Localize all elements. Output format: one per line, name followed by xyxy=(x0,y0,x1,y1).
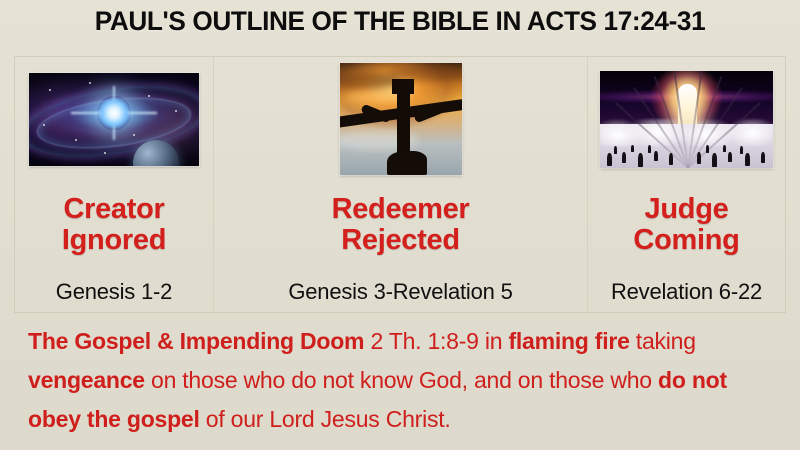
star-speck xyxy=(175,110,177,112)
heading-cell-redeemer: Redeemer Rejected xyxy=(214,181,588,269)
crowd-figure xyxy=(728,152,732,162)
heading-judge-line1: Judge xyxy=(645,193,729,225)
page-title: PAUL'S OUTLINE OF THE BIBLE IN ACTS 17:2… xyxy=(12,6,788,37)
image-cell-creator xyxy=(15,57,214,181)
heading-creator-line2: Ignored xyxy=(62,224,166,256)
verse-segment-3: taking xyxy=(630,328,696,354)
image-cell-judge xyxy=(588,57,785,181)
heading-redeemer: Redeemer Rejected xyxy=(332,194,470,256)
crowd-figure xyxy=(607,153,612,166)
judgment-throne-image xyxy=(600,71,773,168)
verse-segment-7: of our Lord Jesus Christ. xyxy=(200,406,451,432)
verse-segment-1: 2 Th. 1:8-9 in xyxy=(364,328,508,354)
star-speck xyxy=(133,134,135,136)
verse-segment-2: flaming fire xyxy=(508,328,629,354)
heading-redeemer-line1: Redeemer xyxy=(332,193,470,225)
verse-segment-4: vengeance xyxy=(28,367,145,393)
crowd-figure xyxy=(669,153,673,165)
reference-cell-judge: Revelation 6-22 xyxy=(588,269,785,314)
crowd-figure xyxy=(723,145,726,152)
verse-paragraph: The Gospel & Impending Doom 2 Th. 1:8-9 … xyxy=(28,322,761,439)
galaxy-creation-image xyxy=(29,73,199,166)
slide-canvas: PAUL'S OUTLINE OF THE BIBLE IN ACTS 17:2… xyxy=(0,0,800,450)
star-speck xyxy=(148,95,150,97)
reference-cell-creator: Genesis 1-2 xyxy=(15,269,214,314)
crowd-figure xyxy=(706,145,709,153)
reference-creator: Genesis 1-2 xyxy=(56,279,172,305)
crowd-figure xyxy=(740,146,743,154)
crowd-figure xyxy=(697,152,701,164)
star-speck xyxy=(89,82,91,84)
reference-redeemer: Genesis 3-Revelation 5 xyxy=(288,279,512,305)
reference-judge: Revelation 6-22 xyxy=(611,279,762,305)
verse-segment-0: The Gospel & Impending Doom xyxy=(28,328,364,354)
reference-cell-redeemer: Genesis 3-Revelation 5 xyxy=(214,269,588,314)
outline-table: Creator Ignored Redeemer Rejected Judge … xyxy=(14,56,786,313)
heading-cell-creator: Creator Ignored xyxy=(15,181,214,269)
cross-base-rock xyxy=(387,151,427,175)
crucifix-sunset-image xyxy=(340,63,462,175)
heading-judge: Judge Coming xyxy=(633,194,739,256)
crowd-figure xyxy=(631,145,634,152)
heading-cell-judge: Judge Coming xyxy=(588,181,785,269)
crowd-figure xyxy=(761,152,765,163)
cloud-band xyxy=(600,119,773,146)
star-speck xyxy=(43,124,45,126)
crowd-figure xyxy=(654,151,658,161)
heading-judge-line2: Coming xyxy=(633,224,739,256)
heading-creator: Creator Ignored xyxy=(62,194,166,256)
crowd-figure xyxy=(614,146,617,154)
crowd-figure xyxy=(745,153,750,166)
crowd-figure xyxy=(638,153,643,167)
heading-redeemer-line2: Rejected xyxy=(341,224,460,256)
crucifix-silhouette xyxy=(340,63,462,175)
heading-creator-line1: Creator xyxy=(63,193,164,225)
verse-segment-5: on those who do not know God, and on tho… xyxy=(145,367,658,393)
cross-titulus xyxy=(392,79,414,94)
star-speck xyxy=(104,152,106,154)
image-cell-redeemer xyxy=(214,57,588,181)
